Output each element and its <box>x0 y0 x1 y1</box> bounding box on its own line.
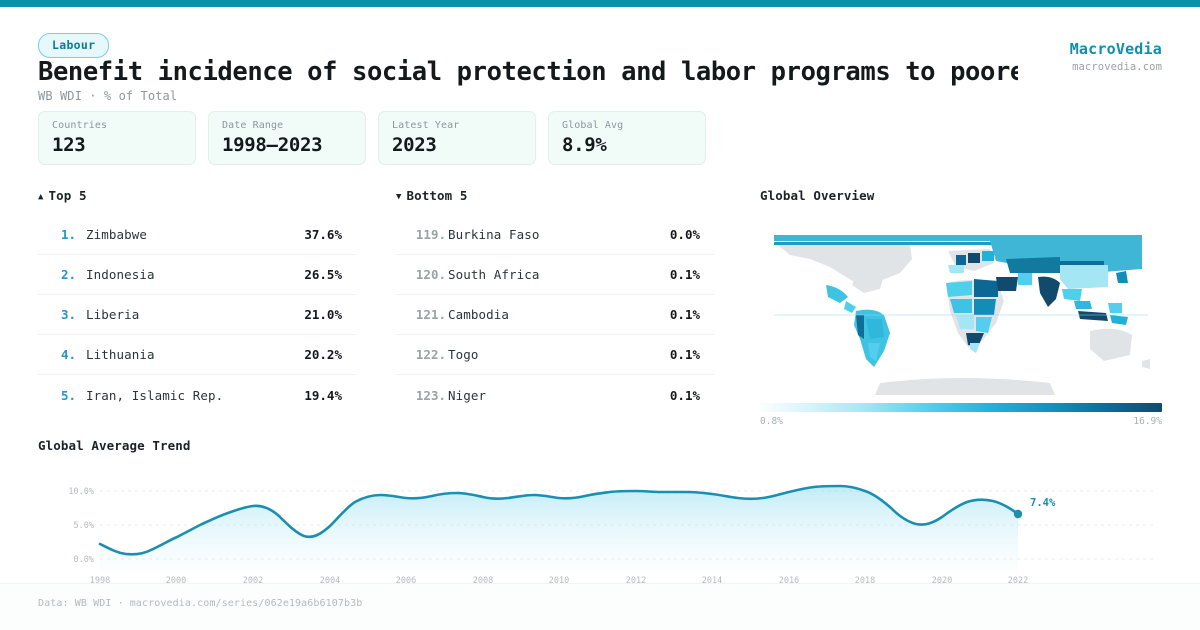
country-value: 21.0% <box>304 307 342 322</box>
country-name: Cambodia <box>448 307 670 322</box>
footer: Data: WB WDI · macrovedia.com/series/062… <box>0 583 1200 630</box>
stat-value: 1998–2023 <box>222 134 365 156</box>
country-value: 26.5% <box>304 267 342 282</box>
country-name: Niger <box>448 388 670 403</box>
triangle-down-icon: ▼ <box>396 192 402 202</box>
trend-endpoint-marker <box>1014 510 1022 518</box>
top5-heading: ▲Top 5 <box>38 188 356 203</box>
list-item[interactable]: 1. Zimbabwe 37.6% <box>38 215 356 255</box>
list-item[interactable]: 3. Liberia 21.0% <box>38 295 356 335</box>
legend-min-label: 0.8% <box>760 416 783 427</box>
stat-label: Global Avg <box>562 120 705 131</box>
page-title: Benefit incidence of social protection a… <box>38 57 1018 87</box>
stat-value: 123 <box>52 134 195 156</box>
trend-panel: Global Average Trend 0.0% 5.0% 10.0% <box>38 438 1162 585</box>
map-legend-gradient <box>760 403 1162 412</box>
country-value: 0.1% <box>670 307 700 322</box>
country-value: 19.4% <box>304 388 342 403</box>
country-value: 0.0% <box>670 227 700 242</box>
list-item[interactable]: 123. Niger 0.1% <box>396 375 714 415</box>
top5-list: 1. Zimbabwe 37.6% 2. Indonesia 26.5% 3. … <box>38 215 356 415</box>
trend-y-tick-labels: 0.0% 5.0% 10.0% <box>68 487 94 565</box>
page-body: Labour Benefit incidence of social prote… <box>0 7 1200 583</box>
global-average-trend-chart[interactable]: 0.0% 5.0% 10.0% 7.4% 1998 2000 2002 2004… <box>38 462 1162 585</box>
y-tick-10: 10.0% <box>68 487 94 497</box>
trend-heading: Global Average Trend <box>38 438 1162 453</box>
brand: MacroVedia macrovedia.com <box>1070 40 1162 73</box>
country-name: Indonesia <box>86 267 304 282</box>
list-item[interactable]: 4. Lithuania 20.2% <box>38 335 356 375</box>
list-item[interactable]: 119. Burkina Faso 0.0% <box>396 215 714 255</box>
country-name: Burkina Faso <box>448 227 670 242</box>
rank-number: 120. <box>412 267 446 282</box>
country-value: 0.1% <box>670 347 700 362</box>
bottom5-heading: ▼Bottom 5 <box>396 188 714 203</box>
stat-label: Countries <box>52 120 195 131</box>
bottom5-panel: ▼Bottom 5 119. Burkina Faso 0.0% 120. So… <box>396 188 714 415</box>
country-name: Togo <box>448 347 670 362</box>
bottom5-list: 119. Burkina Faso 0.0% 120. South Africa… <box>396 215 714 415</box>
map-legend-labels: 0.8% 16.9% <box>760 416 1162 427</box>
bottom5-heading-label: Bottom 5 <box>407 188 468 203</box>
country-name: Liberia <box>86 307 304 322</box>
rank-number: 123. <box>412 388 446 403</box>
page-subtitle: WB WDI · % of Total <box>38 89 177 103</box>
top5-panel: ▲Top 5 1. Zimbabwe 37.6% 2. Indonesia 26… <box>38 188 356 415</box>
global-overview-panel: Global Overview <box>760 188 1162 427</box>
stat-value: 8.9% <box>562 134 705 156</box>
rank-number: 122. <box>412 347 446 362</box>
top-accent-bar <box>0 0 1200 7</box>
stat-card-countries: Countries 123 <box>38 111 196 165</box>
category-badge: Labour <box>38 33 109 58</box>
country-name: Lithuania <box>86 347 304 362</box>
y-tick-5: 5.0% <box>74 521 94 531</box>
list-item[interactable]: 122. Togo 0.1% <box>396 335 714 375</box>
rank-number: 3. <box>54 307 76 322</box>
world-choropleth-map[interactable] <box>760 215 1162 397</box>
stat-card-group: Countries 123 Date Range 1998–2023 Lates… <box>38 111 706 165</box>
list-item[interactable]: 121. Cambodia 0.1% <box>396 295 714 335</box>
country-name: Zimbabwe <box>86 227 304 242</box>
country-value: 0.1% <box>670 267 700 282</box>
country-name: South Africa <box>448 267 670 282</box>
footer-source-text: Data: WB WDI · macrovedia.com/series/062… <box>38 598 362 609</box>
country-value: 37.6% <box>304 227 342 242</box>
stat-card-global-avg: Global Avg 8.9% <box>548 111 706 165</box>
country-value: 0.1% <box>670 388 700 403</box>
stat-card-latest-year: Latest Year 2023 <box>378 111 536 165</box>
list-item[interactable]: 5. Iran, Islamic Rep. 19.4% <box>38 375 356 415</box>
top5-heading-label: Top 5 <box>49 188 87 203</box>
map-heading: Global Overview <box>760 188 1162 203</box>
rank-number: 1. <box>54 227 76 242</box>
stat-value: 2023 <box>392 134 535 156</box>
rank-number: 4. <box>54 347 76 362</box>
stat-card-date-range: Date Range 1998–2023 <box>208 111 366 165</box>
country-name: Iran, Islamic Rep. <box>86 388 304 403</box>
country-value: 20.2% <box>304 347 342 362</box>
rank-number: 2. <box>54 267 76 282</box>
y-tick-0: 0.0% <box>74 555 94 565</box>
stat-label: Date Range <box>222 120 365 131</box>
list-item[interactable]: 2. Indonesia 26.5% <box>38 255 356 295</box>
legend-max-label: 16.9% <box>1133 416 1162 427</box>
stat-label: Latest Year <box>392 120 535 131</box>
trend-endpoint-label: 7.4% <box>1030 497 1056 509</box>
rank-number: 5. <box>54 388 76 403</box>
brand-name: MacroVedia <box>1070 40 1162 58</box>
brand-url: macrovedia.com <box>1070 61 1162 73</box>
rank-number: 121. <box>412 307 446 322</box>
rank-number: 119. <box>412 227 446 242</box>
list-item[interactable]: 120. South Africa 0.1% <box>396 255 714 295</box>
triangle-up-icon: ▲ <box>38 192 44 202</box>
